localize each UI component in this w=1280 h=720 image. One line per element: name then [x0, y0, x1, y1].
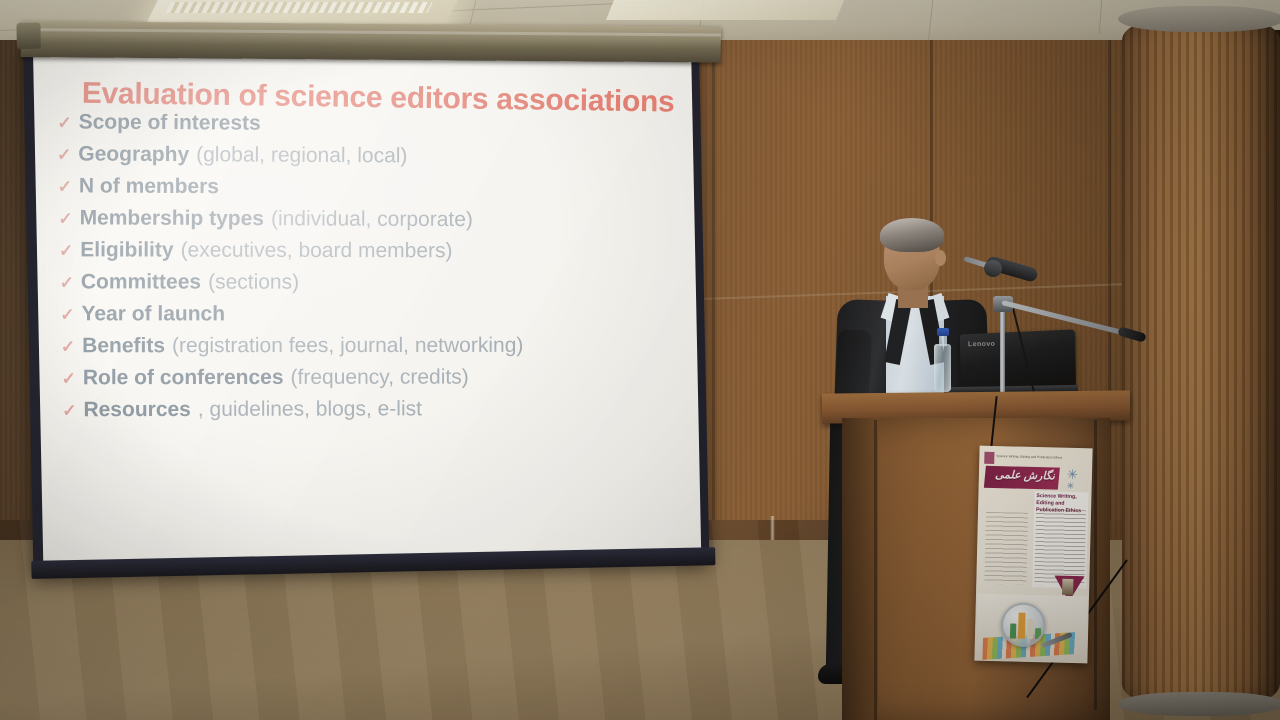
- checkmark-icon: ✓: [57, 115, 71, 132]
- podium-side-panel: [842, 418, 878, 720]
- poster-logo-icon: [984, 452, 994, 464]
- fluorescent-tube: [165, 2, 432, 13]
- checkmark-icon: ✓: [58, 178, 72, 195]
- water-bottle: [934, 344, 951, 392]
- bullet-light: (frequency, credits): [291, 367, 469, 388]
- poster-starburst-icon-1: ✳: [1067, 468, 1078, 481]
- bullet-strong: Role of conferences: [83, 367, 284, 388]
- laptop: [960, 329, 1076, 390]
- speaker-ear: [935, 250, 946, 266]
- checkmark-icon: ✓: [61, 338, 75, 355]
- checkmark-icon: ✓: [57, 146, 71, 163]
- bullet-light: (sections): [208, 272, 299, 293]
- checkmark-icon: ✓: [58, 210, 72, 227]
- lens-bar-1: [1010, 623, 1016, 638]
- checkmark-icon: ✓: [59, 242, 73, 259]
- list-item: ✓ Year of launch: [60, 303, 682, 325]
- podium-seam-left: [874, 420, 877, 720]
- bullet-strong: Resources: [83, 399, 190, 420]
- poster-starburst-icon-2: ✳: [1067, 482, 1075, 491]
- screen-roller-endcap: [16, 23, 41, 49]
- screen-surface: Evaluation of science editors associatio…: [33, 40, 701, 561]
- poster-org-text: Science Writing, Editing and Publication…: [996, 454, 1062, 460]
- bullet-strong: Year of launch: [82, 303, 226, 324]
- list-item: ✓ Eligibility (executives, board members…: [59, 239, 681, 262]
- checkmark-icon: ✓: [62, 370, 76, 387]
- bullet-light: , guidelines, blogs, e-list: [198, 399, 422, 421]
- bullet-light: (executives, board members): [181, 240, 453, 262]
- list-item: ✓ Role of conferences (frequency, credit…: [62, 366, 684, 388]
- lens-bar-2: [1018, 613, 1026, 639]
- checkmark-icon: ✓: [60, 306, 74, 323]
- list-item: ✓ Geography (global, regional, local): [57, 143, 679, 168]
- bullet-light: (global, regional, local): [196, 144, 407, 166]
- slide-bullet-list: ✓ Scope of interests ✓ Geography (global…: [56, 99, 684, 420]
- screen-roller-housing: [21, 21, 721, 62]
- poster-body-text-right: [1034, 509, 1086, 586]
- poster-inset-photo: [1062, 579, 1073, 595]
- bullet-light: (individual, corporate): [271, 208, 473, 230]
- list-item: ✓ Membership types (individual, corporat…: [58, 207, 680, 231]
- list-item: ✓ Scope of interests: [57, 112, 679, 137]
- bullet-strong: Benefits: [82, 335, 165, 356]
- lens-bar-4: [1035, 628, 1041, 639]
- bullet-strong: Membership types: [80, 208, 264, 230]
- list-item: ✓ N of members: [58, 175, 680, 199]
- speaker-hair: [880, 218, 944, 252]
- list-item: ✓ Benefits (registration fees, journal, …: [61, 335, 683, 357]
- curved-wood-column: [1122, 12, 1280, 712]
- checkmark-icon: ✓: [62, 402, 76, 419]
- podium-seam-right: [1094, 420, 1097, 710]
- column-base-trim: [1118, 692, 1280, 716]
- poster-body-text-left: [984, 512, 1028, 585]
- event-poster: Science Writing, Editing and Publication…: [974, 446, 1092, 664]
- poster-banner-title: نگارش علمی: [989, 468, 1055, 487]
- bullet-light: (registration fees, journal, networking): [172, 335, 523, 356]
- bullet-strong: Eligibility: [80, 240, 173, 261]
- bullet-strong: Committees: [81, 272, 201, 293]
- checkmark-icon: ✓: [60, 274, 74, 291]
- bottle-cap: [937, 328, 949, 336]
- lens-bar-3: [1027, 619, 1033, 639]
- list-item: ✓ Committees (sections): [60, 271, 682, 293]
- presentation-slide: Evaluation of science editors associatio…: [33, 40, 701, 561]
- column-top-trim: [1118, 6, 1280, 32]
- bullet-strong: Geography: [78, 144, 189, 166]
- projection-screen: Evaluation of science editors associatio…: [14, 7, 731, 587]
- presentation-photo-scene: Evaluation of science editors associatio…: [0, 0, 1280, 720]
- bullet-strong: Scope of interests: [79, 112, 261, 134]
- list-item: ✓ Resources , guidelines, blogs, e-list: [62, 398, 684, 421]
- laptop-brand-logo: Lenovo: [968, 341, 995, 348]
- bullet-strong: N of members: [79, 176, 219, 198]
